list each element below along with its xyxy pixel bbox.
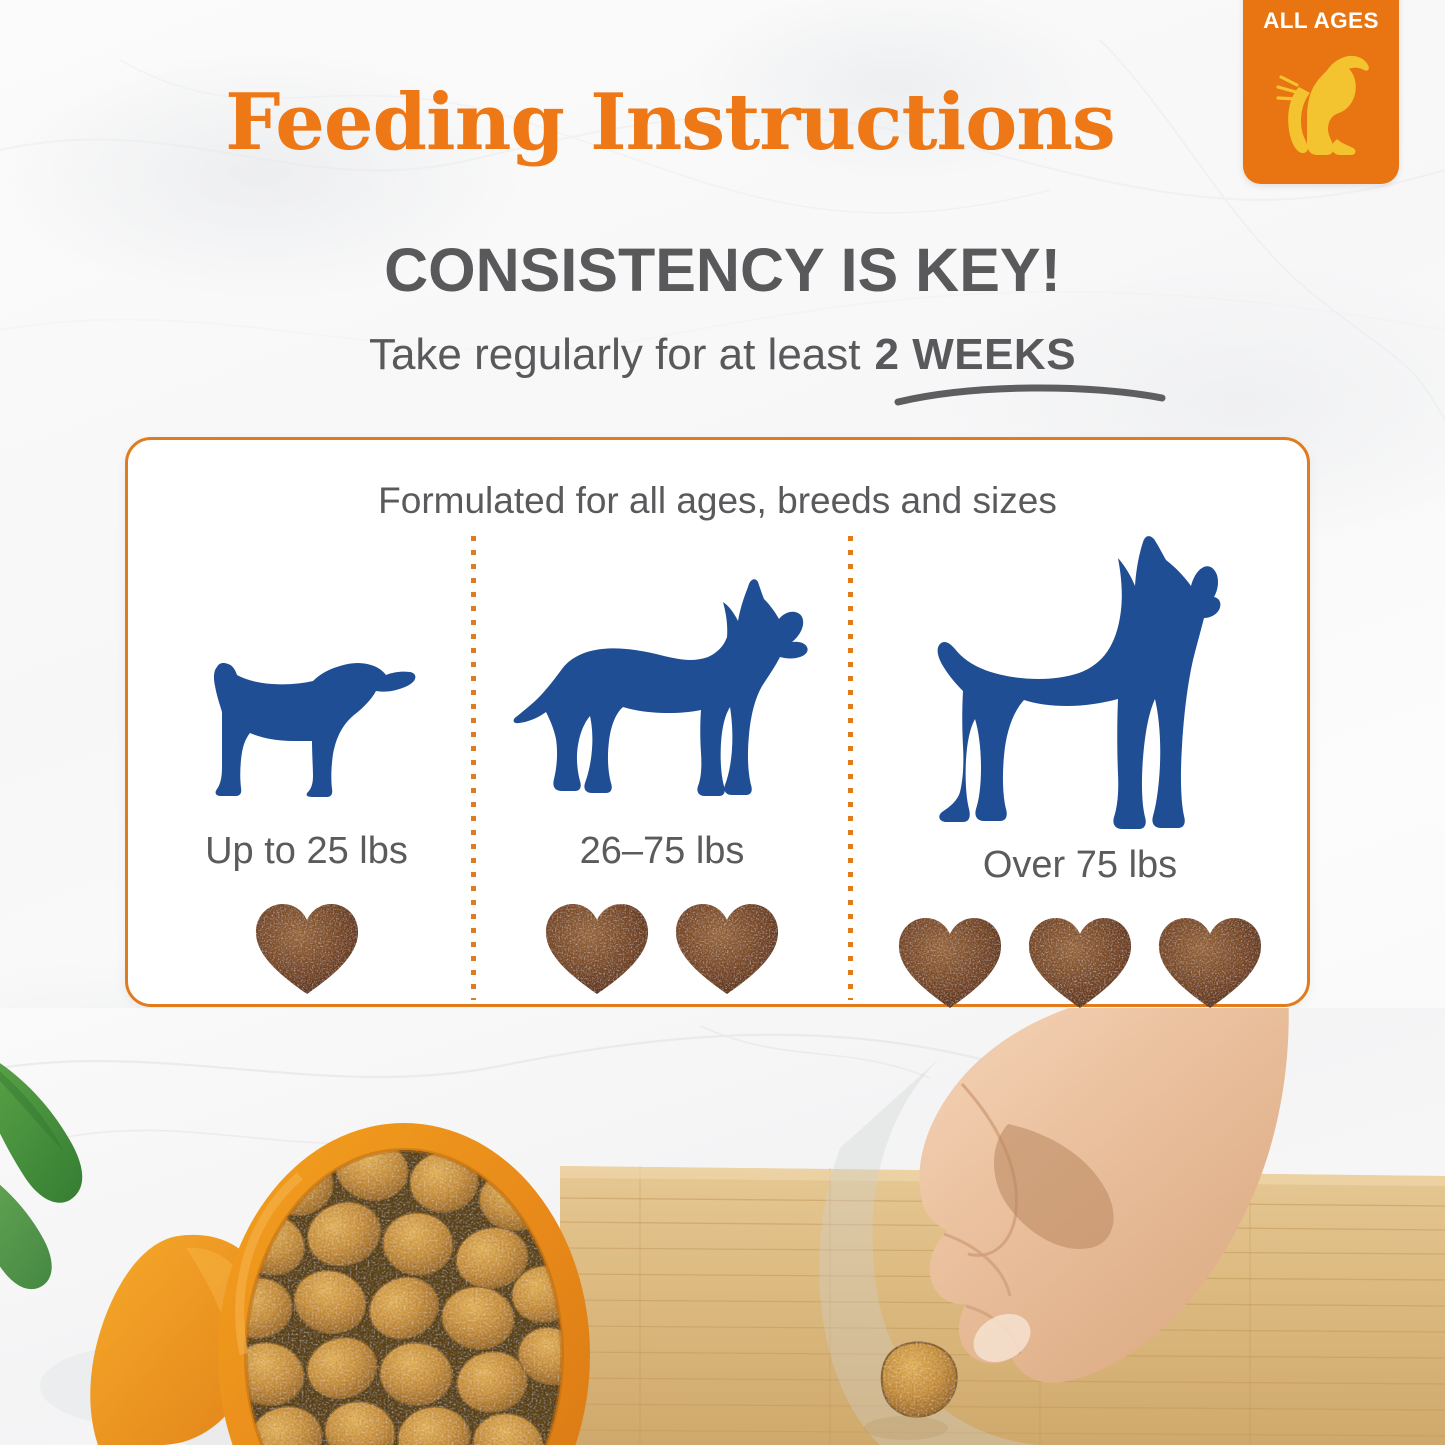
feeding-chart-card: Formulated for all ages, breeds and size… (125, 437, 1310, 1007)
subtitle-consistency: CONSISTENCY IS KEY! (0, 240, 1445, 301)
duration-prefix: Take regularly for at least (369, 330, 861, 379)
kibble-row-large (894, 910, 1266, 1014)
large-dog-silhouette-icon (935, 536, 1225, 836)
size-column-small: Up to 25 lbs (142, 536, 471, 1000)
kibble-heart-icon (894, 910, 1006, 1014)
duration-weeks: 2 WEEKS (875, 330, 1077, 379)
product-photo (0, 1008, 1445, 1445)
kibble-heart-icon (671, 896, 783, 1000)
page-title: Feeding Instructions (0, 84, 1340, 162)
all-ages-badge-label: ALL AGES (1263, 10, 1379, 33)
medium-dog-silhouette-icon (512, 577, 812, 822)
weight-label-small: Up to 25 lbs (205, 832, 408, 870)
kibble-row-small (251, 896, 363, 1000)
kibble-heart-icon (1154, 910, 1266, 1014)
kibble-heart-icon (541, 896, 653, 1000)
size-column-large: Over 75 lbs (853, 536, 1307, 1000)
kibble-row-medium (541, 896, 783, 1000)
kibble-shadow (864, 1416, 948, 1440)
size-column-medium: 26–75 lbs (476, 536, 848, 1000)
weight-label-medium: 26–75 lbs (580, 832, 745, 870)
small-dog-slot (190, 536, 424, 822)
large-dog-slot (935, 536, 1225, 836)
medium-dog-slot (512, 536, 812, 822)
held-kibble (882, 1342, 957, 1416)
duration-underline (894, 376, 1166, 408)
weight-label-large: Over 75 lbs (983, 846, 1177, 884)
kibble-heart-icon (1024, 910, 1136, 1014)
duration-line: Take regularly for at least2 WEEKS (0, 330, 1445, 380)
kibble-heart-icon (251, 896, 363, 1000)
product-photo-scene (0, 1008, 1445, 1445)
small-dog-silhouette-icon (190, 636, 424, 822)
card-caption: Formulated for all ages, breeds and size… (128, 482, 1307, 519)
